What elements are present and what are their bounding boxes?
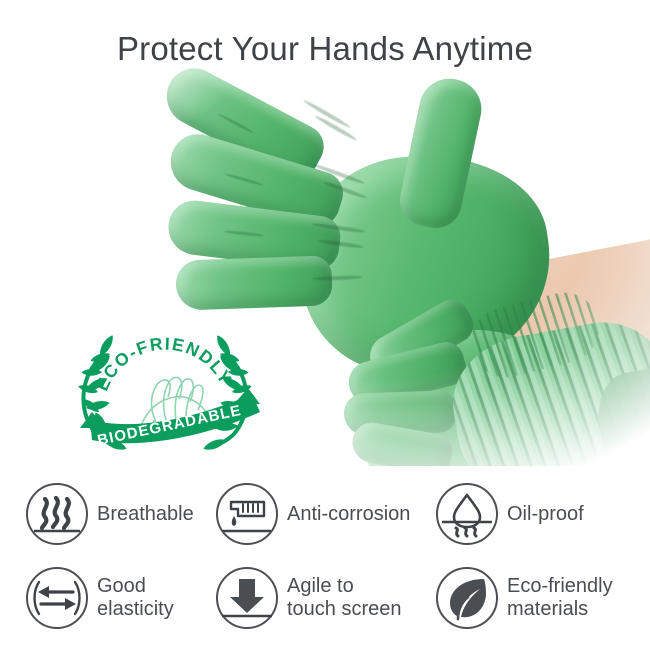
anti-corrosion-icon: [216, 483, 278, 545]
good-elasticity-icon: [26, 567, 88, 629]
feature-list: Breathable A: [0, 466, 650, 650]
feature-row-2: Good elasticity Agile to touch screen: [0, 556, 650, 640]
page-title: Protect Your Hands Anytime: [0, 30, 650, 68]
feature-label: Good elasticity: [97, 575, 174, 621]
feature-anti-corrosion[interactable]: Anti-corrosion: [212, 472, 434, 556]
feature-row-1: Breathable A: [0, 472, 650, 556]
feature-label: Eco-friendly materials: [507, 575, 613, 621]
hero-section: Protect Your Hands Anytime: [0, 0, 650, 466]
eco-friendly-materials-icon: [436, 567, 498, 629]
feature-good-elasticity[interactable]: Good elasticity: [0, 556, 212, 640]
badge-top-text: ECO-FRIENDLY: [92, 333, 237, 393]
product-marketing-image: Protect Your Hands Anytime: [0, 0, 650, 650]
feature-label: Oil-proof: [507, 503, 584, 526]
agile-touch-screen-icon: [216, 567, 278, 629]
feature-eco-friendly-materials[interactable]: Eco-friendly materials: [434, 556, 650, 640]
feature-oil-proof[interactable]: Oil-proof: [434, 472, 650, 556]
feature-agile-touch-screen[interactable]: Agile to touch screen: [212, 556, 434, 640]
eco-friendly-biodegradable-badge: ECO-FRIENDLY BIODEGRADABLE: [70, 300, 270, 450]
breathable-icon: [26, 483, 88, 545]
feature-breathable[interactable]: Breathable: [0, 472, 212, 556]
feature-label: Anti-corrosion: [287, 503, 410, 526]
oil-proof-icon: [436, 483, 498, 545]
feature-label: Breathable: [97, 503, 194, 526]
feature-label: Agile to touch screen: [287, 575, 402, 621]
